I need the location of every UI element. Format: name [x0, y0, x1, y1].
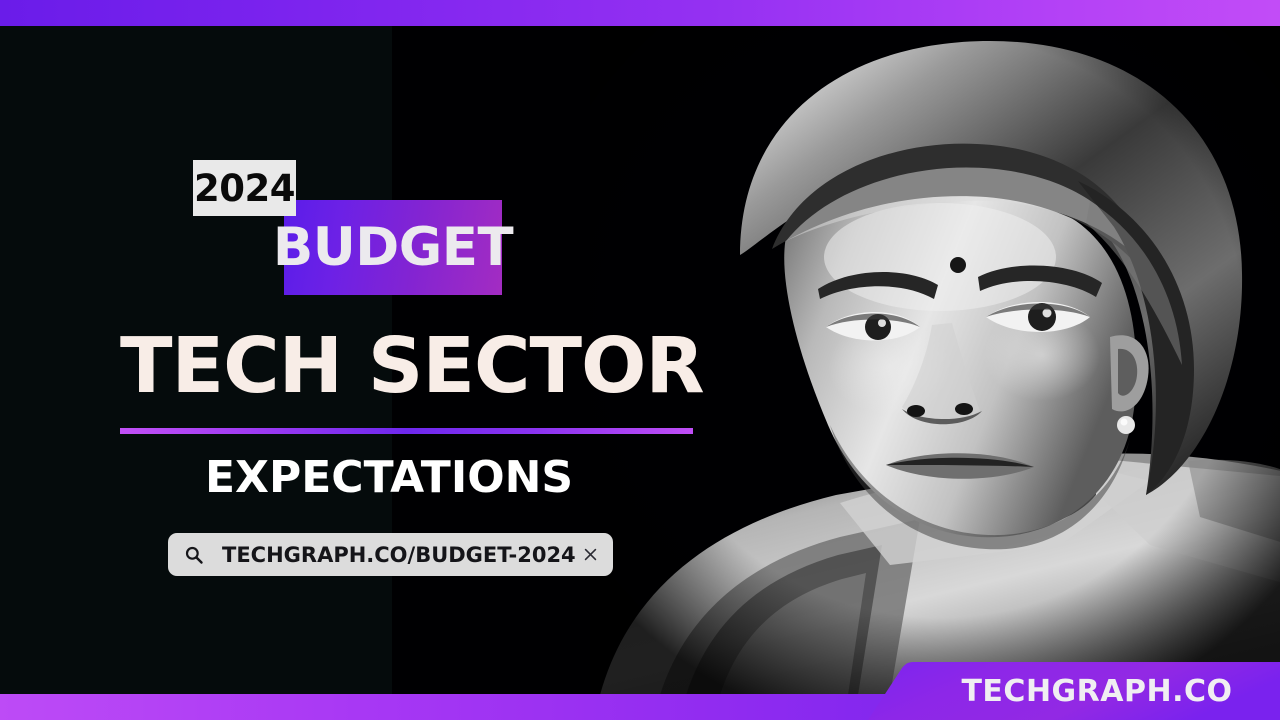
- content-column: 2024 BUDGET TECH SECTOR EXPECTATIONS TEC…: [0, 0, 720, 720]
- budget-badge: BUDGET: [284, 200, 502, 295]
- year-badge-label: 2024: [194, 170, 295, 207]
- close-icon[interactable]: [582, 546, 599, 563]
- budget-badge-label: BUDGET: [273, 221, 513, 274]
- search-bar[interactable]: TECHGRAPH.CO/BUDGET-2024: [168, 533, 613, 576]
- title-underline-rule: [120, 428, 693, 434]
- brand-banner: [868, 662, 1280, 720]
- search-input[interactable]: TECHGRAPH.CO/BUDGET-2024: [222, 543, 576, 567]
- page-title-text: TECH SECTOR: [120, 328, 704, 405]
- promo-banner-canvas: 2024 BUDGET TECH SECTOR EXPECTATIONS TEC…: [0, 0, 1280, 720]
- year-badge: 2024: [193, 160, 296, 216]
- page-subtitle: EXPECTATIONS: [205, 450, 573, 506]
- page-subtitle-text: EXPECTATIONS: [205, 456, 573, 500]
- top-gradient-bar: [0, 0, 1280, 26]
- search-icon: [184, 545, 204, 565]
- page-title: TECH SECTOR: [120, 320, 720, 412]
